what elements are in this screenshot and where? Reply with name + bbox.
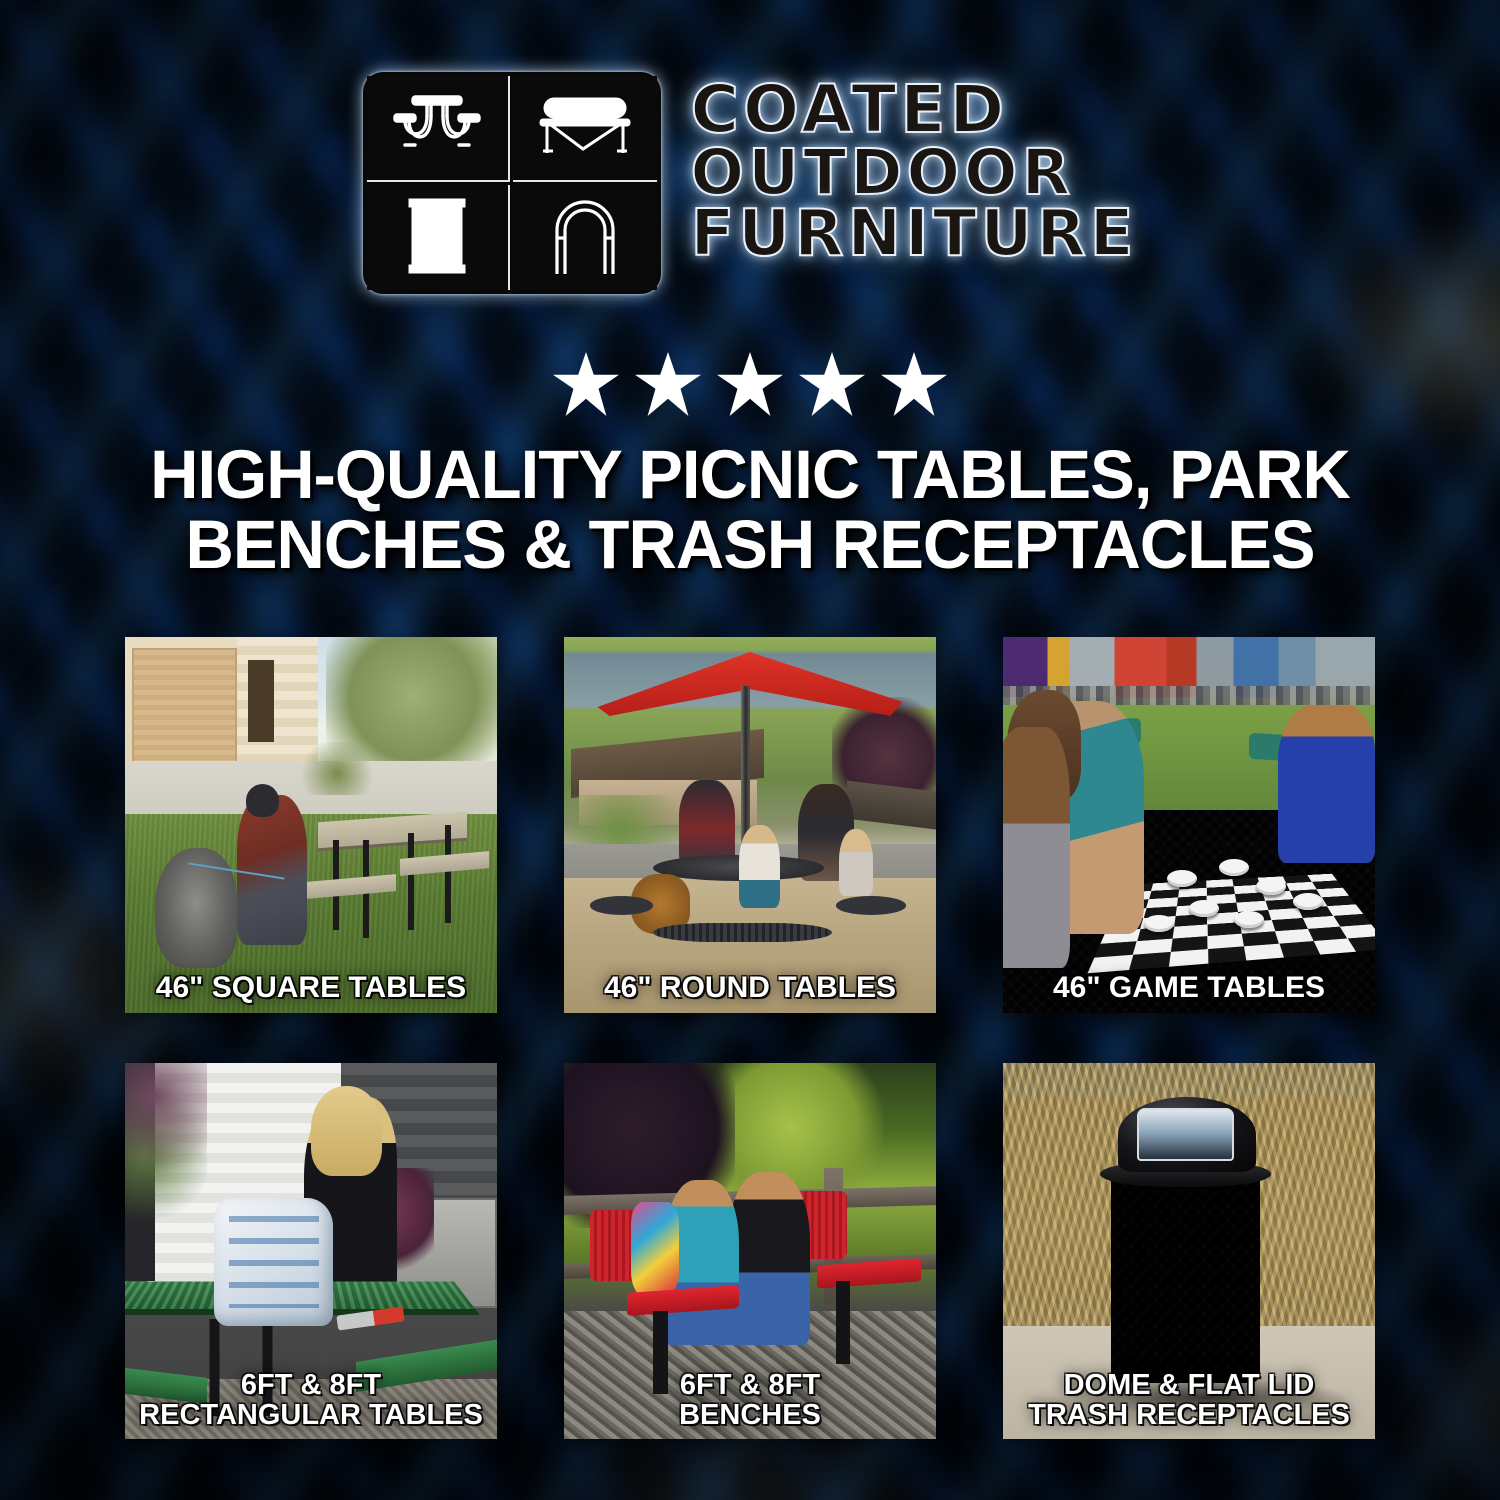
star-icon xyxy=(635,352,701,416)
tile-caption-line-1: DOME & FLAT LID xyxy=(1009,1371,1369,1401)
promo-poster: COATED OUTDOOR FURNITURE HIGH-QUALITY PI… xyxy=(0,0,1500,1500)
photo-square-tables xyxy=(125,637,497,1013)
star-icon xyxy=(799,352,865,416)
park-bench-icon xyxy=(513,76,657,182)
picnic-table-icon xyxy=(367,76,511,182)
tile-caption-line-1: 46" SQUARE TABLES xyxy=(131,973,491,1003)
tile-caption-line-1: 46" GAME TABLES xyxy=(1009,973,1369,1003)
star-icon xyxy=(881,352,947,416)
tile-caption: DOME & FLAT LID TRASH RECEPTACLES xyxy=(1003,1371,1375,1431)
gallery-tile-round-tables[interactable]: 46" ROUND TABLES xyxy=(564,637,936,1013)
tile-caption: 46" GAME TABLES xyxy=(1003,973,1375,1003)
tile-caption-line-1: 46" ROUND TABLES xyxy=(570,973,930,1003)
photo-round-tables xyxy=(564,637,936,1013)
tile-caption-line-2: RECTANGULAR TABLES xyxy=(131,1401,491,1431)
star-icon xyxy=(717,352,783,416)
star-icon xyxy=(553,352,619,416)
page-title: HIGH-QUALITY PICNIC TABLES, PARK BENCHES… xyxy=(90,440,1409,581)
tile-caption: 46" SQUARE TABLES xyxy=(125,973,497,1003)
tile-caption-line-1: 6FT & 8FT xyxy=(131,1371,491,1401)
star-rating xyxy=(0,352,1500,416)
product-gallery: 46" SQUARE TABLES xyxy=(125,637,1375,1439)
flat-lid-trash-icon xyxy=(367,185,511,291)
gallery-tile-game-tables[interactable]: 46" GAME TABLES xyxy=(1003,637,1375,1013)
tile-caption-line-2: TRASH RECEPTACLES xyxy=(1009,1401,1369,1431)
headline-line-1: HIGH-QUALITY PICNIC TABLES, PARK xyxy=(90,440,1409,510)
tile-caption-line-1: 6FT & 8FT xyxy=(570,1371,930,1401)
brand-logo: COATED OUTDOOR FURNITURE xyxy=(0,72,1500,294)
brand-wordmark: COATED OUTDOOR FURNITURE xyxy=(691,72,1138,265)
brand-name-line-3: FURNITURE xyxy=(691,203,1138,265)
tile-caption-line-2: BENCHES xyxy=(570,1401,930,1431)
brand-name-line-2: OUTDOOR xyxy=(691,142,1138,203)
gallery-tile-square-tables[interactable]: 46" SQUARE TABLES xyxy=(125,637,497,1013)
gallery-tile-trash-receptacles[interactable]: DOME & FLAT LID TRASH RECEPTACLES xyxy=(1003,1063,1375,1439)
tile-caption: 6FT & 8FT BENCHES xyxy=(564,1371,936,1431)
gallery-tile-benches[interactable]: 6FT & 8FT BENCHES xyxy=(564,1063,936,1439)
logo-icon-grid xyxy=(363,72,661,294)
photo-game-tables xyxy=(1003,637,1375,1013)
brand-name-line-1: COATED xyxy=(691,78,1138,142)
tile-caption: 46" ROUND TABLES xyxy=(564,973,936,1003)
dome-lid-trash-icon xyxy=(513,185,657,291)
gallery-tile-rectangular-tables[interactable]: 6FT & 8FT RECTANGULAR TABLES xyxy=(125,1063,497,1439)
tile-caption: 6FT & 8FT RECTANGULAR TABLES xyxy=(125,1371,497,1431)
headline-line-2: BENCHES & TRASH RECEPTACLES xyxy=(90,510,1409,580)
